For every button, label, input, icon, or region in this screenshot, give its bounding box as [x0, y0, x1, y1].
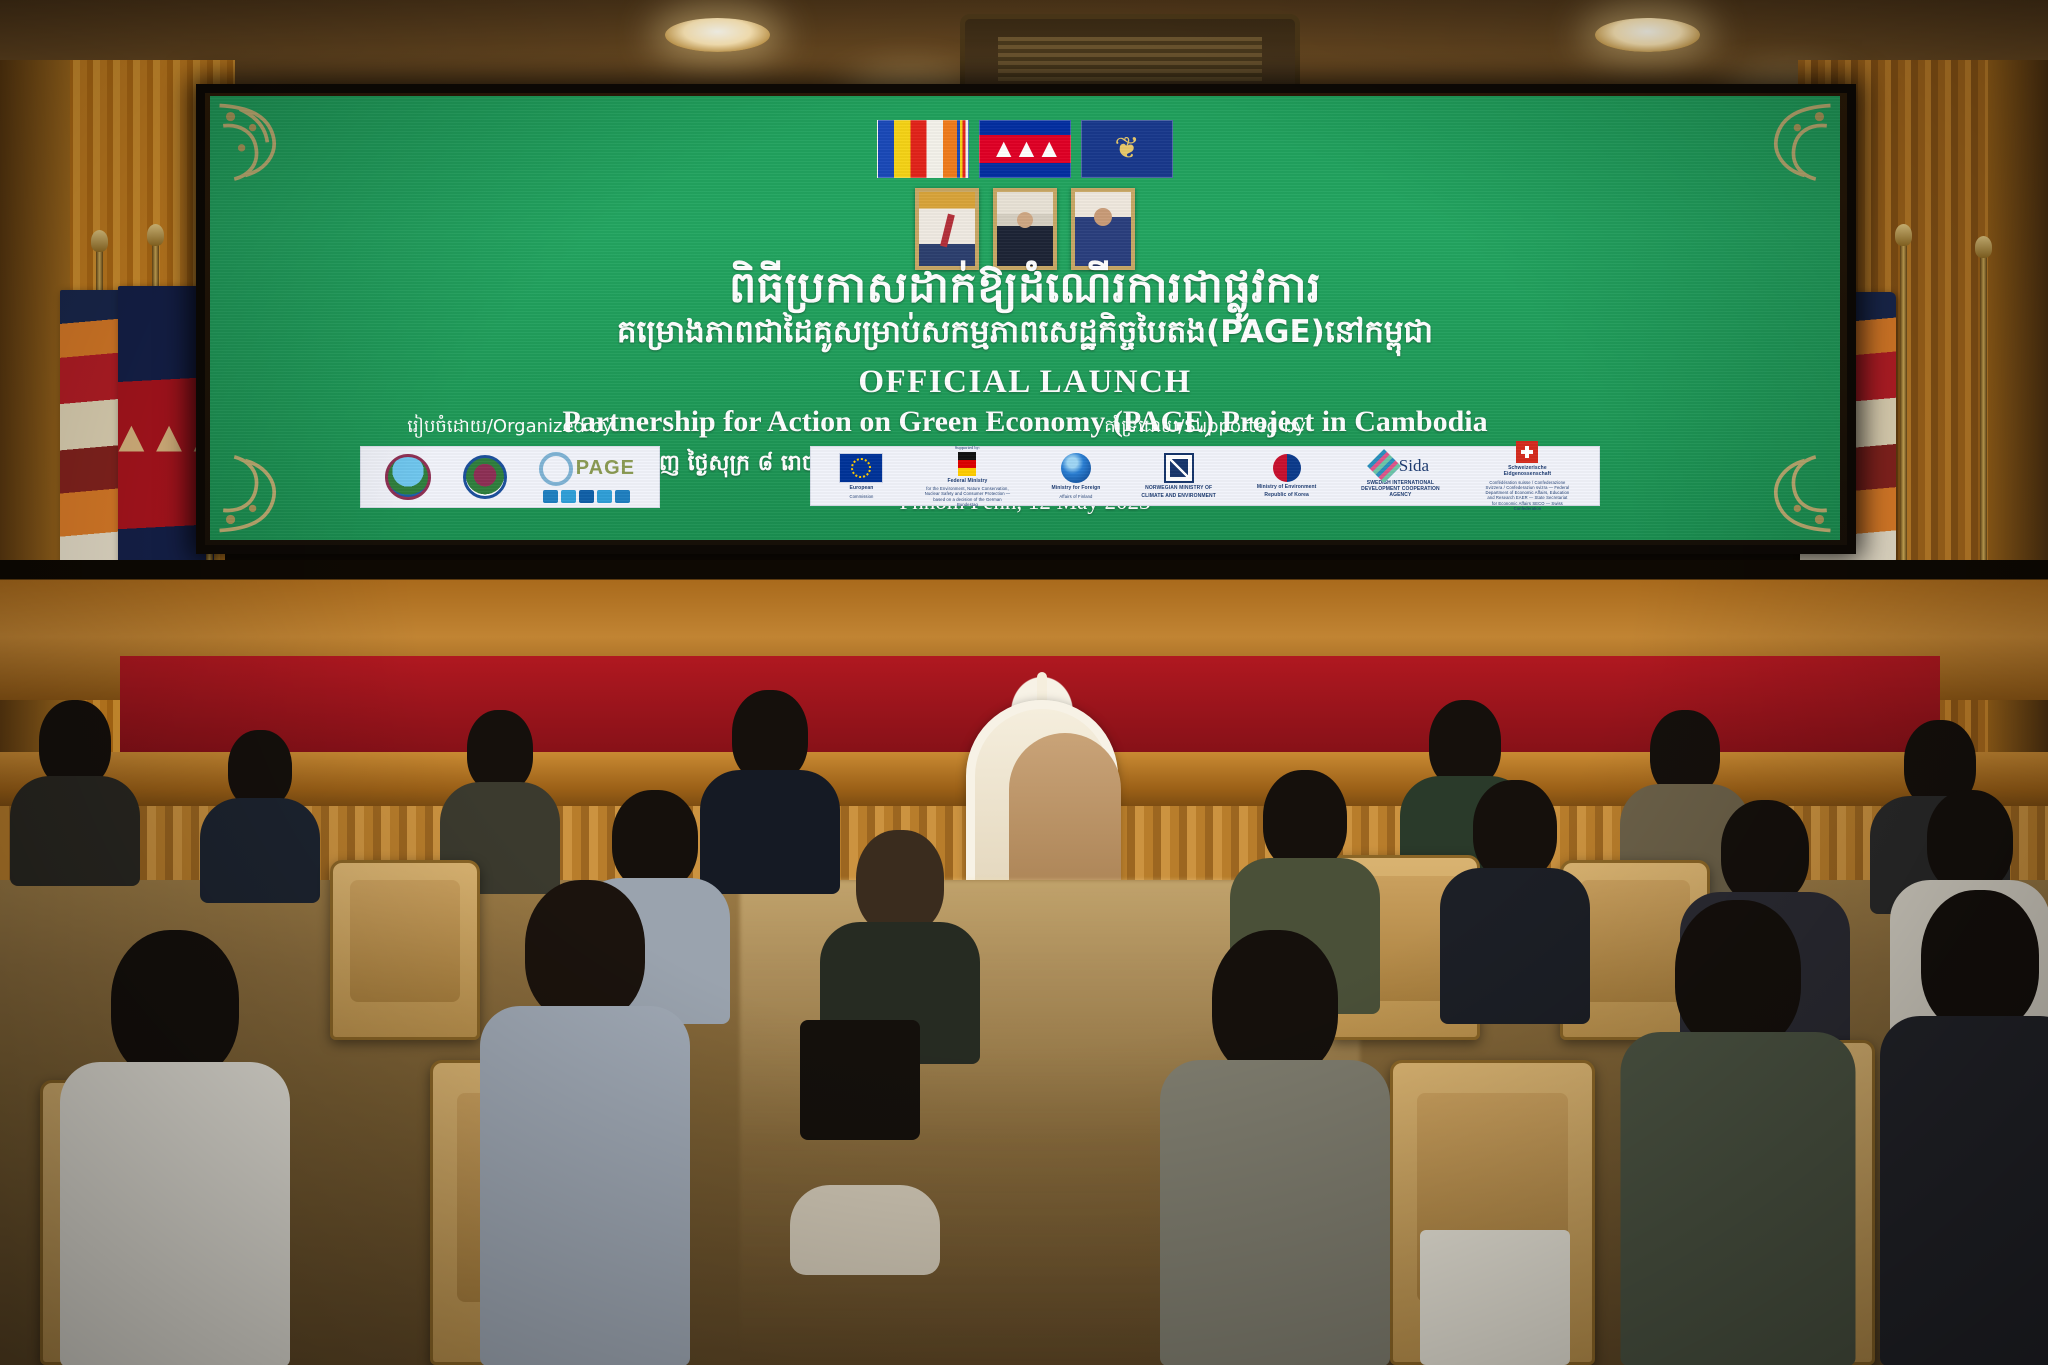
- organizer-logo-strip: PAGE: [360, 446, 660, 508]
- head: [525, 880, 645, 1022]
- page-ring-icon: [539, 452, 573, 486]
- eu-caption: Commission: [849, 494, 873, 499]
- head: [1675, 900, 1801, 1050]
- supported-by-block: គាំទ្រដោយ/Supported by European Commissi…: [810, 414, 1600, 506]
- led-presentation-screen: ▲▲▲ ❦ ពិធីប្រកាសដាក់ឱ្យដំណើរការជាផ្លូវកា…: [210, 96, 1840, 540]
- cambodia-flag-icon: ▲▲▲: [979, 120, 1071, 178]
- torso: [1440, 868, 1590, 1024]
- torso: [1160, 1060, 1390, 1365]
- finland-caption: Affairs of Finland: [1059, 494, 1092, 499]
- head: [1473, 780, 1557, 880]
- royal-portrait-row: [210, 188, 1840, 270]
- supported-by-small-label: Supported by:: [955, 445, 980, 450]
- floor-bag: [800, 1020, 920, 1140]
- audience-member: [480, 880, 690, 1365]
- head: [111, 930, 239, 1080]
- korea-caption-bold: Ministry of Environment: [1257, 484, 1317, 490]
- head: [1921, 890, 2039, 1032]
- swiss-caption-bold: Schweizerische Eidgenossenschaft: [1484, 465, 1570, 478]
- swiss-caption: Confédération suisse / Confederazione Sv…: [1484, 480, 1570, 512]
- norway-caption-bold: NORWEGIAN MINISTRY OF: [1145, 485, 1212, 491]
- head: [1927, 790, 2013, 892]
- norway-emblem-icon: [1164, 453, 1194, 483]
- audience-member: [1440, 780, 1590, 1020]
- credits-row: រៀបចំដោយ/Organized by PAGE: [210, 414, 1840, 532]
- royal-standard-flag-icon: ❦: [1081, 120, 1173, 178]
- head: [856, 830, 944, 934]
- audience-chair: [330, 860, 480, 1040]
- audience-member: [1160, 930, 1390, 1365]
- supporter-logo-strip: European Commission Supported by: Federa…: [810, 446, 1600, 506]
- audience-member: [60, 930, 290, 1365]
- throne-backrest: [966, 700, 1118, 910]
- head: [1263, 770, 1347, 870]
- logo-norwegian-ministry: NORWEGIAN MINISTRY OF CLIMATE AND ENVIRO…: [1141, 453, 1216, 500]
- sida-word: Sida: [1399, 456, 1429, 476]
- audience-member: [1620, 900, 1855, 1365]
- head: [1721, 800, 1809, 904]
- unep-icon: [543, 490, 558, 503]
- swiss-cross-icon: [1516, 441, 1538, 463]
- supported-by-label: គាំទ្រដោយ/Supported by: [810, 414, 1600, 441]
- logo-ministry-agriculture-cambodia: [463, 455, 507, 499]
- sida-caption: SWEDISH INTERNATIONAL DEVELOPMENT COOPER…: [1357, 480, 1443, 499]
- ministry-environment-seal-icon: [385, 454, 431, 500]
- ministry-agriculture-seal-icon: [463, 455, 507, 499]
- undp-icon: [597, 490, 612, 503]
- logo-sida: Sida SWEDISH INTERNATIONAL DEVELOPMENT C…: [1357, 454, 1443, 499]
- ceiling-downlight: [1595, 18, 1700, 52]
- portrait-queen-mother: [1071, 188, 1135, 270]
- finland-globe-icon: [1061, 453, 1091, 483]
- head: [612, 790, 698, 890]
- portrait-king-father: [993, 188, 1057, 270]
- korea-caption: Republic of Korea: [1264, 492, 1308, 498]
- portrait-king: [915, 188, 979, 270]
- head: [39, 700, 111, 788]
- ilo-icon: [561, 490, 576, 503]
- audience-member: [200, 730, 320, 900]
- sida-wordmark: Sida: [1372, 454, 1429, 478]
- audience-member: [10, 700, 140, 880]
- khmer-title: ពិធីប្រកាសដាក់ឱ្យដំណើរការជាផ្លូវការ: [210, 264, 1840, 313]
- eu-caption-bold: European: [850, 485, 874, 491]
- logo-ministry-environment-cambodia: [385, 454, 431, 500]
- unitar-icon: [615, 490, 630, 503]
- royal-crest-icon: ❦: [1114, 134, 1139, 164]
- logo-page: PAGE: [539, 452, 635, 503]
- germany-flag-icon: [958, 452, 976, 476]
- logo-german-federal-ministry: Supported by: Federal Ministry for the E…: [924, 445, 1010, 507]
- logo-swiss-confederation: Schweizerische Eidgenossenschaft Confédé…: [1484, 441, 1570, 511]
- organized-by-label: រៀបចំដោយ/Organized by: [360, 414, 660, 441]
- buddhist-flag-icon: [877, 120, 969, 178]
- audience-member: [1880, 890, 2048, 1365]
- screen-flag-row: ▲▲▲ ❦: [210, 120, 1840, 178]
- logo-european-commission: European Commission: [839, 453, 883, 499]
- throne-cushion: [1009, 733, 1121, 899]
- ceiling-downlight: [665, 18, 770, 52]
- torso: [60, 1062, 290, 1365]
- torso: [1620, 1032, 1855, 1365]
- head: [467, 710, 533, 792]
- organized-by-block: រៀបចំដោយ/Organized by PAGE: [360, 414, 660, 508]
- torso: [10, 776, 140, 886]
- head: [732, 690, 808, 782]
- unido-icon: [579, 490, 594, 503]
- german-caption: for the Environment, Nature Conservation…: [924, 486, 1010, 507]
- torso: [480, 1006, 690, 1365]
- conference-hall-photo: ▲▲▲ ❦ ▲▲▲ ❦: [0, 0, 2048, 1365]
- korea-taegeuk-icon: [1273, 454, 1301, 482]
- logo-finland-foreign-affairs: Ministry for Foreign Affairs of Finland: [1051, 453, 1100, 499]
- head: [1429, 700, 1501, 788]
- angkor-wat-icon: ▲▲▲: [991, 136, 1059, 162]
- page-wordmark: PAGE: [539, 452, 635, 486]
- page-partner-agency-row: [543, 490, 630, 503]
- sida-grid-icon: [1367, 449, 1401, 483]
- khmer-subtitle: គម្រោងភាពជាដៃគូសម្រាប់សកម្មភាពសេដ្ឋកិច្ច…: [210, 314, 1840, 351]
- norway-caption: CLIMATE AND ENVIRONMENT: [1141, 493, 1216, 499]
- finland-caption-bold: Ministry for Foreign: [1051, 485, 1100, 491]
- torso: [200, 798, 320, 903]
- page-word: PAGE: [576, 457, 635, 480]
- logo-korea-environment: Ministry of Environment Republic of Kore…: [1257, 454, 1317, 499]
- head: [228, 730, 292, 808]
- head: [1212, 930, 1338, 1078]
- torso: [1880, 1016, 2048, 1365]
- eu-flag-icon: [839, 453, 883, 483]
- floor-bag: [790, 1185, 940, 1275]
- german-caption-bold: Federal Ministry: [947, 478, 987, 484]
- english-launch-heading: OFFICIAL LAUNCH: [210, 364, 1840, 401]
- floor-bag: [1420, 1230, 1570, 1365]
